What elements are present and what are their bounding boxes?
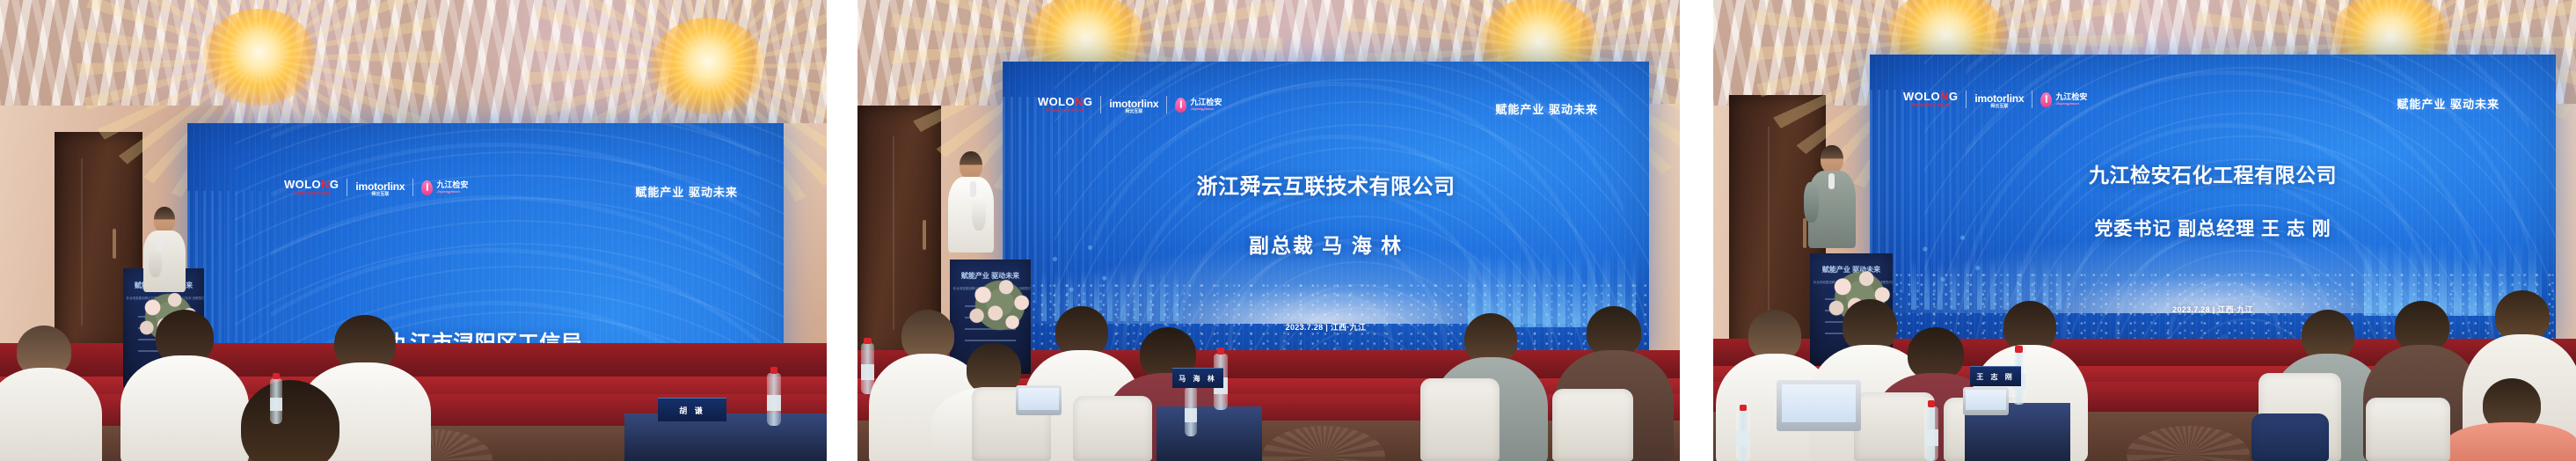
- name-card: 王 志 刚: [1970, 366, 2021, 386]
- jiujiang-jianan-name-en: Jiujiangjianan: [436, 190, 468, 194]
- photo-panel-3: WOLONG Power your future · · · · · · · ·…: [1713, 0, 2576, 461]
- chair: [1854, 392, 1935, 461]
- wolong-tagline: Power your future: [1912, 104, 1950, 108]
- wolong-logo: WOLONG Power your future: [284, 179, 339, 196]
- logo-row: WOLONG Power your future · · · · · · · ·…: [1903, 90, 2087, 109]
- speaker-head: [960, 151, 982, 179]
- wolong-name-left: WOLO: [284, 178, 321, 191]
- imotorlinx-name-cn: 舜云互联: [371, 193, 389, 197]
- imotorlinx-dots: · · · · · · · ·: [1120, 95, 1149, 99]
- water-bottle: [861, 343, 874, 394]
- imotorlinx-dots: · · · · · · · ·: [366, 178, 395, 181]
- screen-network-nodes: [1022, 232, 1132, 309]
- imotorlinx-name: imotorlinx: [1974, 93, 2024, 105]
- chair: [2251, 413, 2329, 461]
- logo-divider-2: [1166, 96, 1167, 113]
- imotorlinx-logo: · · · · · · · · imotorlinx 舜云互联: [1109, 95, 1158, 114]
- jiujiang-jianan-mark-icon: [421, 180, 433, 195]
- name-card: 马 海 林: [1172, 368, 1223, 388]
- imotorlinx-name: imotorlinx: [1109, 99, 1158, 110]
- jiujiang-jianan-logo: 九江检安 Jiujiangjianan: [2040, 92, 2087, 107]
- speaker-head: [154, 207, 175, 233]
- speaker-head: [1821, 145, 1843, 173]
- water-bottle: [1736, 410, 1750, 461]
- imotorlinx-logo: · · · · · · · · imotorlinx 舜云互联: [355, 178, 405, 197]
- water-bottle: [1924, 406, 1938, 461]
- wolong-name-left: WOLO: [1038, 95, 1075, 108]
- audience-table: [1157, 406, 1262, 461]
- wolong-name-mark: N: [1940, 90, 1949, 103]
- speaker-arm: [149, 247, 162, 277]
- water-bottle: [767, 373, 781, 426]
- microphone: [1828, 173, 1835, 189]
- speaker-at-podium: [141, 207, 188, 304]
- wolong-name-mark: N: [321, 178, 330, 191]
- name-card-text: 胡 谦: [679, 405, 705, 416]
- chandelier-right: [651, 18, 765, 114]
- chair: [1552, 389, 1633, 461]
- audience-member: [0, 326, 97, 461]
- water-bottle: [1185, 387, 1197, 436]
- imotorlinx-name-cn: 舜云互联: [1125, 110, 1142, 114]
- chair: [1420, 378, 1500, 461]
- slide-datestamp: 2023.7.28 | 江西·九江: [1286, 321, 1367, 333]
- wolong-tagline: Power your future: [1047, 109, 1084, 113]
- jiujiang-jianan-logo: 九江检安 Jiujiangjianan: [1175, 98, 1222, 113]
- imotorlinx-dots: · · · · · · · ·: [1985, 90, 2014, 93]
- jiujiang-jianan-logo: 九江检安 Jiujiangjianan: [421, 180, 468, 195]
- imotorlinx-logo: · · · · · · · · imotorlinx 舜云互联: [1974, 90, 2024, 109]
- speaker-arm: [1804, 182, 1819, 223]
- laptop: [1777, 380, 1861, 431]
- audience-member: [2450, 378, 2573, 461]
- wolong-name-right: G: [1084, 95, 1093, 108]
- slide-headline: 浙江舜云互联技术有限公司: [1197, 169, 1456, 200]
- screen-network-nodes: [1890, 223, 2007, 298]
- slide-slogan: 赋能产业 驱动未来: [1495, 100, 1598, 117]
- speaker-at-podium: [1806, 145, 1858, 261]
- name-card-text: 王 志 刚: [1976, 372, 2014, 382]
- microphone: [970, 181, 976, 197]
- triptych-photo-strip: WOLONG Power your future · · · · · · · ·…: [0, 0, 2576, 461]
- wolong-name-right: G: [1949, 90, 1959, 103]
- logo-row: WOLONG Power your future · · · · · · · ·…: [284, 178, 468, 197]
- jiujiang-jianan-mark-icon: [1175, 98, 1186, 113]
- imotorlinx-name-cn: 舜云互联: [1990, 105, 2008, 109]
- chair: [1073, 396, 1152, 461]
- photo-panel-2: WOLONG Power your future · · · · · · · ·…: [857, 0, 1680, 461]
- chandelier-left: [202, 9, 317, 106]
- audience-shoulders: [0, 368, 102, 461]
- slide-subline: 党委书记 副总经理 王 志 刚: [2094, 215, 2331, 241]
- slide-subline: 副总裁 马 海 林: [1249, 229, 1403, 259]
- conference-room: WOLONG Power your future · · · · · · · ·…: [857, 0, 1680, 461]
- logo-row: WOLONG Power your future · · · · · · · ·…: [1038, 95, 1222, 114]
- speaker-at-podium: [945, 151, 996, 266]
- speaker-arm: [972, 194, 986, 230]
- wolong-name-right: G: [330, 178, 339, 191]
- slide-slogan: 赋能产业 驱动未来: [635, 183, 738, 200]
- audience-shoulders: [2446, 422, 2576, 461]
- wolong-tagline: Power your future: [293, 192, 331, 196]
- logo-divider-2: [412, 179, 413, 196]
- logo-divider-1: [1100, 96, 1101, 113]
- imotorlinx-name: imotorlinx: [355, 181, 405, 193]
- laptop: [1963, 387, 2009, 415]
- jiujiang-jianan-mark-icon: [2040, 92, 2052, 107]
- water-bottle: [270, 378, 282, 424]
- slide-datestamp: 2023.7.28 | 江西·九江: [2172, 304, 2253, 315]
- wolong-logo: WOLONG Power your future: [1038, 96, 1092, 113]
- wolong-name-mark: N: [1075, 95, 1084, 108]
- slide-slogan: 赋能产业 驱动未来: [2397, 95, 2499, 112]
- slide-headline: 九江检安石化工程有限公司: [2089, 158, 2337, 188]
- name-card-text: 马 海 林: [1179, 374, 1216, 384]
- name-card: 胡 谦: [658, 398, 726, 421]
- wolong-logo: WOLONG Power your future: [1903, 91, 1958, 108]
- logo-divider-1: [347, 179, 347, 196]
- conference-room: WOLONG Power your future · · · · · · · ·…: [0, 0, 827, 461]
- audience-member: [224, 380, 356, 461]
- logo-divider-1: [1966, 91, 1967, 108]
- audience-head: [241, 380, 339, 461]
- conference-room: WOLONG Power your future · · · · · · · ·…: [1713, 0, 2576, 461]
- microphone: [157, 237, 163, 252]
- jiujiang-jianan-name-en: Jiujiangjianan: [1190, 107, 1222, 111]
- logo-divider-2: [2032, 91, 2032, 108]
- audience-head: [1908, 327, 1964, 380]
- jiujiang-jianan-name-en: Jiujiangjianan: [2055, 102, 2087, 106]
- chair: [2366, 398, 2450, 461]
- wolong-name-left: WOLO: [1903, 90, 1940, 103]
- laptop: [1016, 385, 1062, 415]
- photo-panel-1: WOLONG Power your future · · · · · · · ·…: [0, 0, 827, 461]
